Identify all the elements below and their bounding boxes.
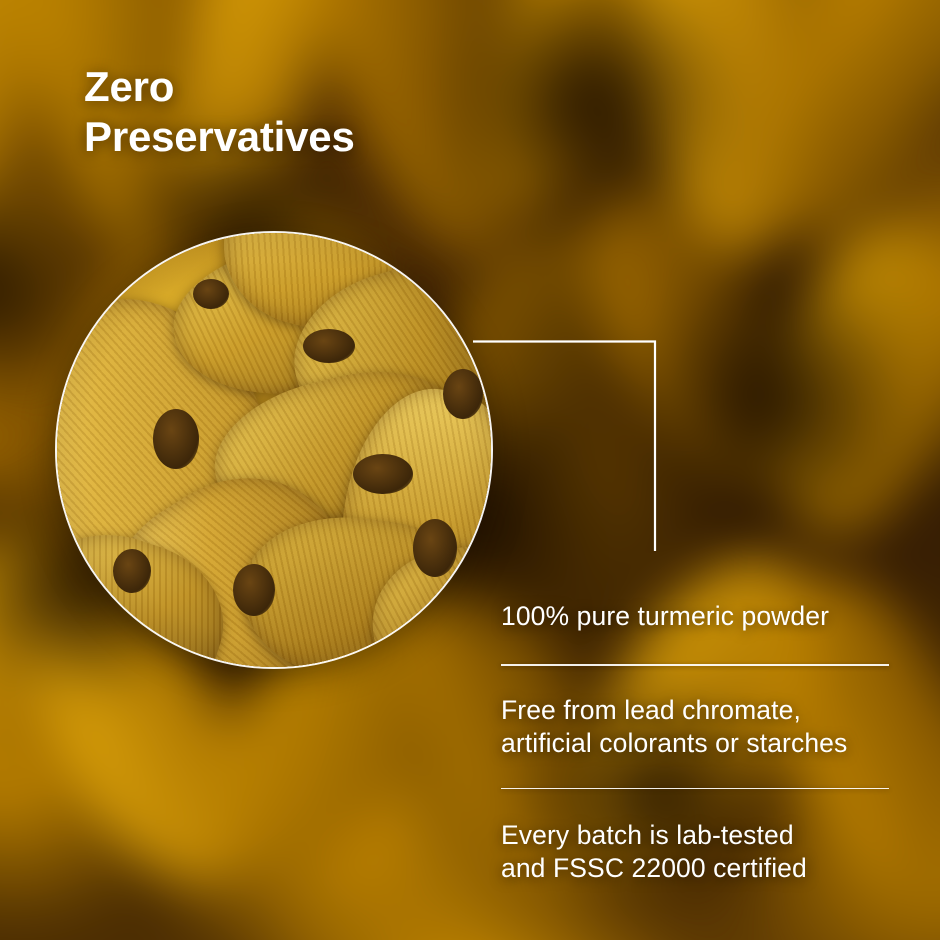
page-title: Zero Preservatives <box>84 62 355 162</box>
bg-shadow <box>620 250 920 550</box>
list-item: Free from lead chromate, artificial colo… <box>501 666 889 788</box>
list-item: Every batch is lab-tested and FSSC 22000… <box>501 789 889 885</box>
feature-list: 100% pure turmeric powder Free from lead… <box>501 600 889 885</box>
turmeric-closeup-circle <box>55 231 493 669</box>
infographic-canvas: Zero Preservatives <box>0 0 940 940</box>
list-item: 100% pure turmeric powder <box>501 600 889 664</box>
turmeric-closeup-photo <box>55 231 493 669</box>
closeup-vignette <box>55 231 493 669</box>
